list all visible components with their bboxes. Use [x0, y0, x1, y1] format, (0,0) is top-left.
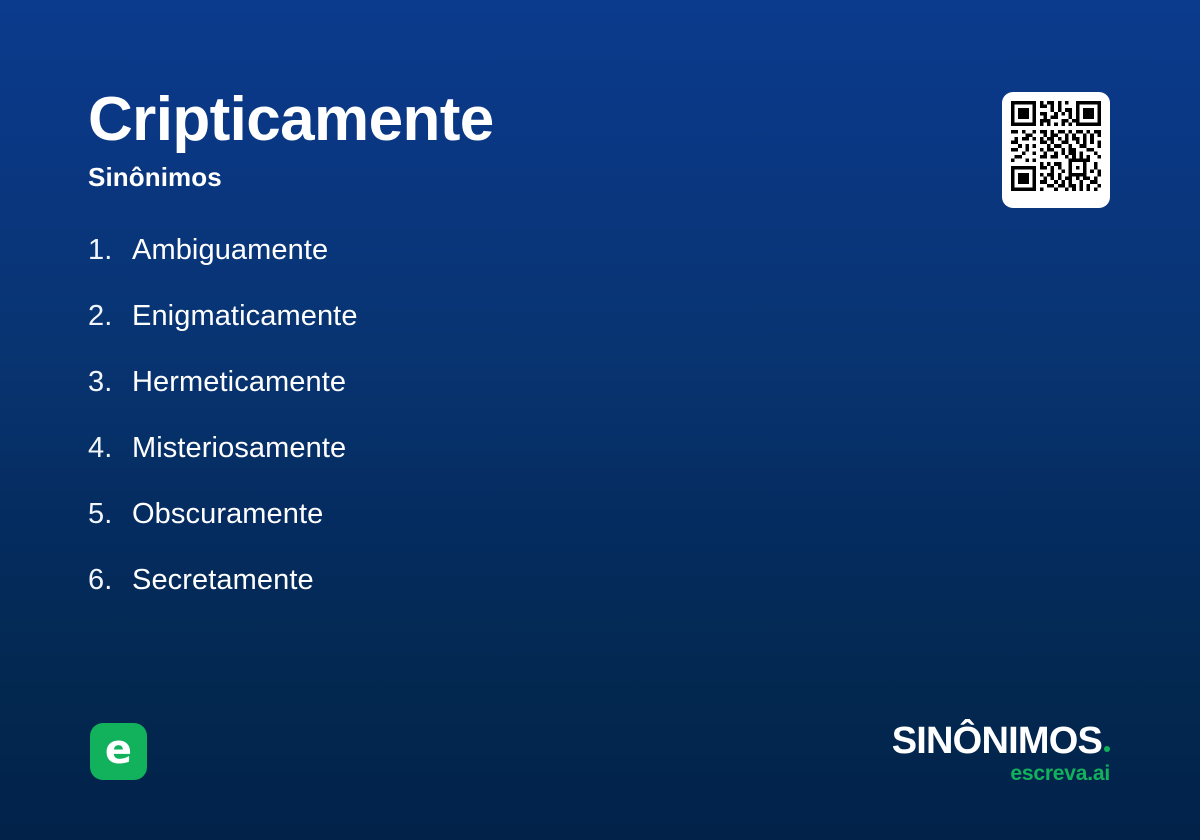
brand-domain: escreva.ai	[850, 763, 1110, 784]
synonym-list: 1.Ambiguamente2.Enigmaticamente3.Hermeti…	[88, 234, 948, 630]
escreva-e-icon[interactable]: e	[90, 723, 147, 780]
list-item-term: Obscuramente	[132, 498, 323, 531]
list-item: 3.Hermeticamente	[88, 366, 948, 432]
synonym-card: Cripticamente Sinônimos 1.Ambiguamente2.…	[0, 0, 1200, 840]
card-header: Cripticamente Sinônimos	[88, 88, 948, 192]
list-item: 5.Obscuramente	[88, 498, 948, 564]
list-item-term: Hermeticamente	[132, 366, 346, 399]
brand-dot-icon	[1104, 746, 1110, 752]
list-item-term: Enigmaticamente	[132, 300, 358, 333]
list-item: 1.Ambiguamente	[88, 234, 948, 300]
list-item: 4.Misteriosamente	[88, 432, 948, 498]
list-item-term: Misteriosamente	[132, 432, 346, 465]
qr-code-panel[interactable]	[1002, 92, 1110, 208]
brand-name-text: SINÔNIMOS	[892, 720, 1102, 762]
qr-code-icon	[1011, 101, 1101, 191]
list-item-index: 3.	[88, 366, 132, 399]
list-item-index: 1.	[88, 234, 132, 267]
list-item-index: 4.	[88, 432, 132, 465]
list-item-index: 5.	[88, 498, 132, 531]
list-item-term: Ambiguamente	[132, 234, 328, 267]
list-item: 6.Secretamente	[88, 564, 948, 630]
list-item-index: 2.	[88, 300, 132, 333]
list-item-term: Secretamente	[132, 564, 314, 597]
brand-name: SINÔNIMOS	[850, 722, 1110, 760]
list-item-index: 6.	[88, 564, 132, 597]
brand-lockup[interactable]: SINÔNIMOS escreva.ai	[850, 722, 1110, 784]
page-title: Cripticamente	[88, 88, 948, 151]
app-mark-letter: e	[105, 730, 132, 770]
section-label: Sinônimos	[88, 163, 948, 192]
list-item: 2.Enigmaticamente	[88, 300, 948, 366]
